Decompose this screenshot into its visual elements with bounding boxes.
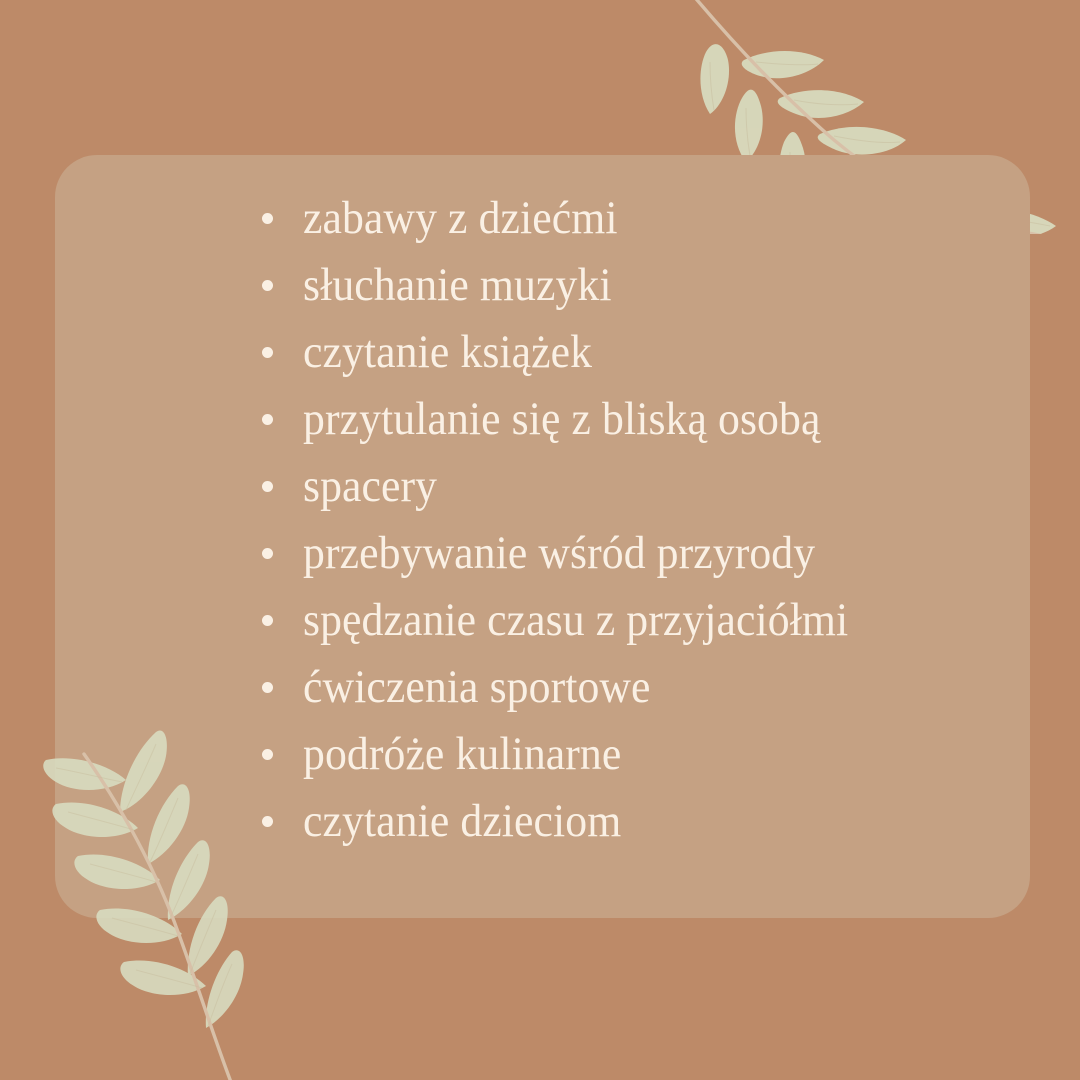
- list-item: ćwiczenia sportowe: [262, 659, 677, 715]
- list-item-label: spacery: [303, 463, 437, 510]
- list-item-label: przytulanie się z bliską osobą: [303, 396, 820, 443]
- list-item-label: ćwiczenia sportowe: [303, 664, 651, 711]
- list-item: spacery: [262, 458, 447, 514]
- list-item-label: spędzanie czasu z przyjaciółmi: [303, 597, 848, 644]
- bullet-icon: [262, 414, 273, 425]
- bullet-icon: [262, 347, 273, 358]
- list-item: przytulanie się z bliską osobą: [262, 391, 859, 447]
- list-item: zabawy z dziećmi: [262, 190, 641, 246]
- list-item: słuchanie muzyki: [262, 257, 635, 313]
- list-item-label: słuchanie muzyki: [303, 262, 612, 309]
- bullet-icon: [262, 682, 273, 693]
- poster-canvas: zabawy z dziećmi słuchanie muzyki czytan…: [0, 0, 1080, 1080]
- list-item-label: przebywanie wśród przyrody: [303, 530, 815, 577]
- list-item-label: czytanie dzieciom: [303, 798, 621, 845]
- bullet-icon: [262, 615, 273, 626]
- bullet-icon: [262, 213, 273, 224]
- list-item-label: podróże kulinarne: [303, 731, 621, 778]
- list-item: spędzanie czasu z przyjaciółmi: [262, 592, 889, 648]
- list-item: podróże kulinarne: [262, 726, 645, 782]
- list-item: czytanie dzieciom: [262, 793, 645, 849]
- bullet-icon: [262, 280, 273, 291]
- list-item-label: zabawy z dziećmi: [303, 195, 618, 242]
- list-item-label: czytanie książek: [303, 329, 592, 376]
- bullet-icon: [262, 548, 273, 559]
- bullet-icon: [262, 816, 273, 827]
- list-item: czytanie książek: [262, 324, 614, 380]
- list-item: przebywanie wśród przyrody: [262, 525, 854, 581]
- bullet-icon: [262, 481, 273, 492]
- bullet-icon: [262, 749, 273, 760]
